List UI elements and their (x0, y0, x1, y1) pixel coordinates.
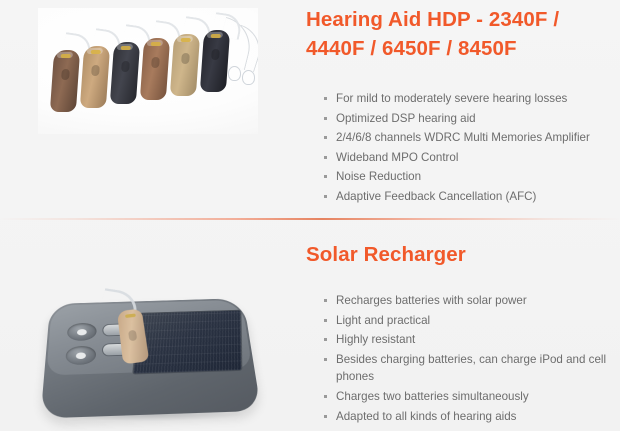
battery-slot (67, 323, 97, 341)
hearing-aid-contact (211, 34, 221, 38)
list-item: Besides charging batteries, can charge i… (322, 351, 618, 386)
ear-dome-icon (242, 70, 255, 85)
solar-recharger-title: Solar Recharger (306, 240, 606, 269)
list-item-label: Noise Reduction (336, 170, 421, 183)
hearing-aid-button (91, 65, 100, 76)
hearing-aid-unit (170, 34, 200, 96)
battery-slot-contact (77, 329, 87, 335)
bullet-icon (324, 358, 327, 361)
list-item: Noise Reduction (322, 168, 618, 186)
hearing-aid-button (211, 49, 220, 60)
list-item-label: For mild to moderately severe hearing lo… (336, 92, 567, 105)
list-item: Wideband MPO Control (322, 149, 618, 167)
bullet-icon (324, 415, 327, 418)
bullet-icon (324, 338, 327, 341)
hearing-aid-contact (181, 38, 191, 42)
hearing-aid-contact (91, 50, 101, 54)
hearing-aid-feature-list: For mild to moderately severe hearing lo… (322, 90, 618, 208)
list-item-label: Wideband MPO Control (336, 151, 458, 164)
bullet-icon (324, 136, 327, 139)
hearing-aid-product-photo (38, 8, 258, 134)
solar-media-column (0, 219, 300, 431)
list-item-label: Light and practical (336, 314, 430, 327)
list-item-label: Besides charging batteries, can charge i… (336, 353, 606, 384)
hearing-aid-unit (200, 30, 230, 92)
bullet-icon (324, 175, 327, 178)
list-item-label: 2/4/6/8 channels WDRC Multi Memories Amp… (336, 131, 590, 144)
charger-top-face (46, 300, 252, 376)
docked-hearing-aid-contact (125, 313, 136, 318)
hearing-aid-unit (50, 50, 80, 112)
list-item-label: Adaptive Feedback Cancellation (AFC) (336, 190, 536, 203)
hearing-aid-button (61, 69, 70, 80)
product-features-page: Hearing Aid HDP - 2340F / 4440F / 6450F … (0, 0, 620, 431)
list-item: 2/4/6/8 channels WDRC Multi Memories Amp… (322, 129, 618, 147)
bullet-icon (324, 299, 327, 302)
hearing-aid-contact (121, 46, 131, 50)
bullet-icon (324, 395, 327, 398)
hearing-aid-button (151, 57, 160, 68)
bullet-icon (324, 97, 327, 100)
solar-text-column: Solar Recharger Recharges batteries with… (300, 219, 620, 431)
section-hearing-aid: Hearing Aid HDP - 2340F / 4440F / 6450F … (0, 0, 620, 218)
list-item: Recharges batteries with solar power (322, 292, 618, 310)
charger-body (40, 298, 261, 418)
list-item: Optimized DSP hearing aid (322, 110, 618, 128)
docked-hearing-aid-button (128, 330, 137, 342)
hearing-aid-unit (140, 38, 170, 100)
section-solar-recharger: Solar Recharger Recharges batteries with… (0, 219, 620, 431)
solar-feature-list: Recharges batteries with solar power Lig… (322, 292, 618, 427)
hearing-aid-unit (110, 42, 140, 104)
bullet-icon (324, 156, 327, 159)
bullet-icon (324, 117, 327, 120)
list-item-label: Highly resistant (336, 333, 415, 346)
hearing-aid-text-column: Hearing Aid HDP - 2340F / 4440F / 6450F … (300, 0, 620, 218)
list-item: Light and practical (322, 312, 618, 330)
list-item-label: Optimized DSP hearing aid (336, 112, 476, 125)
hearing-aid-contact (61, 54, 71, 58)
list-item: Adapted to all kinds of hearing aids (322, 408, 618, 426)
list-item-label: Recharges batteries with solar power (336, 294, 527, 307)
bullet-icon (324, 319, 327, 322)
solar-recharger-product-photo (12, 239, 282, 431)
hearing-aid-button (181, 53, 190, 64)
battery-slot (65, 346, 96, 366)
hearing-aid-media-column (0, 0, 300, 218)
list-item-label: Charges two batteries simultaneously (336, 390, 529, 403)
bullet-icon (324, 195, 327, 198)
ear-dome-icon (228, 66, 241, 81)
solar-panel (132, 310, 242, 375)
hearing-aid-unit (80, 46, 110, 108)
list-item-label: Adapted to all kinds of hearing aids (336, 410, 516, 423)
hearing-aid-title: Hearing Aid HDP - 2340F / 4440F / 6450F … (306, 5, 618, 63)
hearing-aid-button (121, 61, 130, 72)
hearing-aid-contact (151, 42, 161, 46)
list-item: For mild to moderately severe hearing lo… (322, 90, 618, 108)
list-item: Adaptive Feedback Cancellation (AFC) (322, 188, 618, 206)
list-item: Charges two batteries simultaneously (322, 388, 618, 406)
list-item: Highly resistant (322, 331, 618, 349)
battery-slot-contact (76, 352, 86, 359)
